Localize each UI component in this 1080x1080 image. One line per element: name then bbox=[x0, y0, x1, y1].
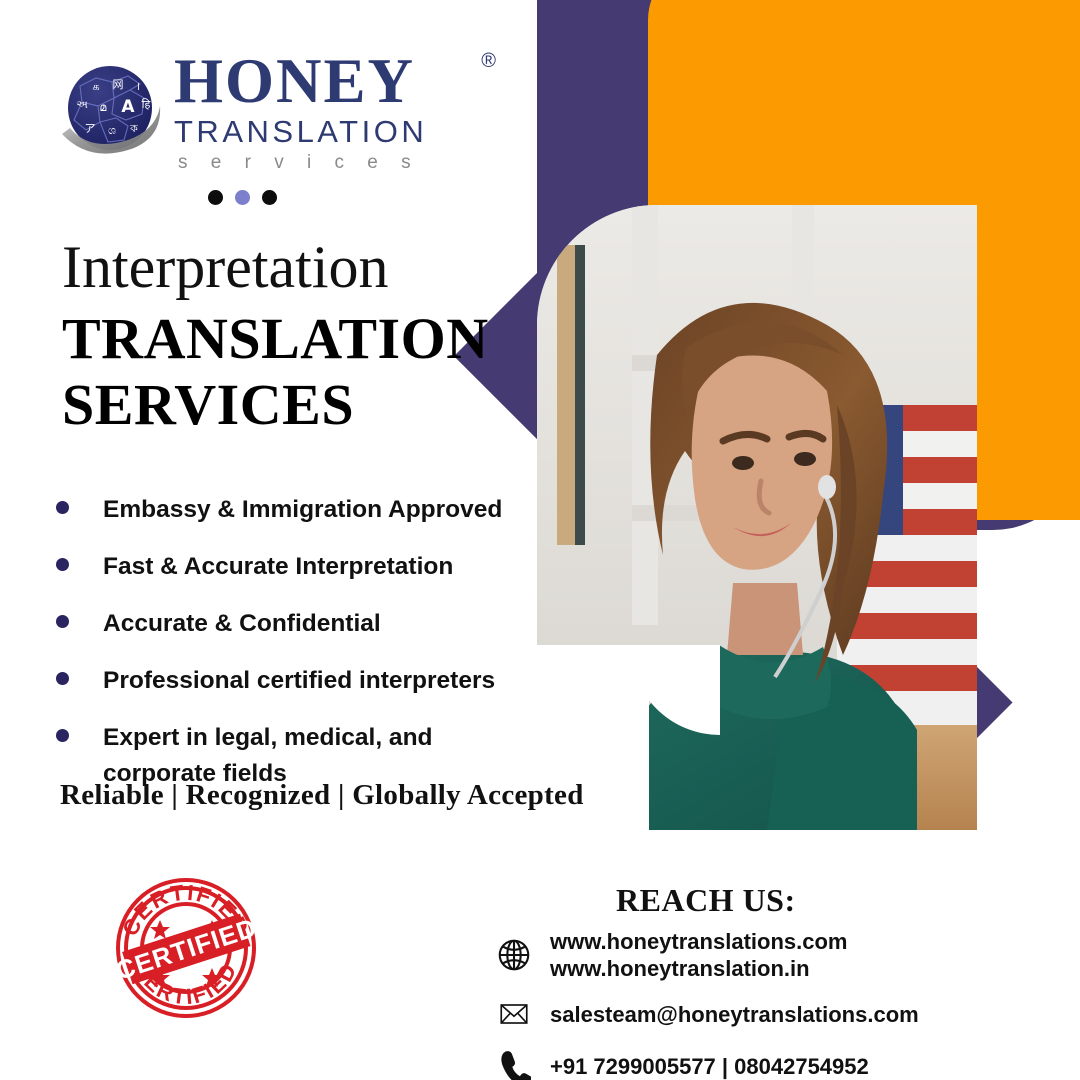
brand-name: HONEY bbox=[174, 48, 415, 114]
bullet-dot-icon bbox=[56, 501, 69, 514]
contact-line[interactable]: salesteam@honeytranslations.com bbox=[550, 1001, 919, 1028]
feature-item: Professional certified interpreters bbox=[56, 663, 526, 699]
svg-text:ශ: ශ bbox=[108, 124, 116, 137]
brand-line-services: s e r v i c e s bbox=[174, 150, 474, 176]
contact-text-group: www.honeytranslations.comwww.honeytransl… bbox=[550, 928, 847, 982]
contact-text-group: +91 7299005577 | 08042754952 bbox=[550, 1053, 869, 1080]
svg-text:க: க bbox=[92, 80, 99, 93]
reach-us-title: REACH US: bbox=[616, 882, 796, 919]
brand-line-translation: TRANSLATION bbox=[174, 114, 474, 150]
dot-2 bbox=[235, 190, 250, 205]
dot-1 bbox=[208, 190, 223, 205]
bullet-dot-icon bbox=[56, 672, 69, 685]
headline-block: Interpretation TRANSLATION SERVICES bbox=[62, 236, 532, 438]
contact-line[interactable]: www.honeytranslation.in bbox=[550, 955, 847, 982]
svg-text:ア: ア bbox=[85, 122, 96, 135]
contact-row[interactable]: +91 7299005577 | 08042754952 bbox=[492, 1046, 1052, 1080]
feature-item: Accurate & Confidential bbox=[56, 606, 526, 642]
tagline: Reliable | Recognized | Globally Accepte… bbox=[60, 779, 584, 812]
headline-main: TRANSLATION SERVICES bbox=[62, 306, 532, 438]
feature-item-label: Embassy & Immigration Approved bbox=[103, 492, 502, 528]
feature-list: Embassy & Immigration ApprovedFast & Acc… bbox=[56, 492, 526, 813]
registered-mark-icon: ® bbox=[481, 50, 496, 73]
globe-icon bbox=[492, 935, 536, 975]
contact-line[interactable]: +91 7299005577 | 08042754952 bbox=[550, 1053, 869, 1080]
envelope-icon bbox=[492, 994, 536, 1034]
feature-item-label: Fast & Accurate Interpretation bbox=[103, 549, 453, 585]
brand-wordmark: HONEY® TRANSLATION s e r v i c e s bbox=[174, 48, 474, 176]
feature-item: Fast & Accurate Interpretation bbox=[56, 549, 526, 585]
contact-rows: www.honeytranslations.comwww.honeytransl… bbox=[492, 928, 1052, 1080]
svg-text:અ: અ bbox=[76, 98, 88, 111]
svg-text:हि: हि bbox=[142, 98, 151, 111]
bullet-dot-icon bbox=[56, 729, 69, 742]
svg-text:网: 网 bbox=[113, 78, 124, 91]
headline-line-2: SERVICES bbox=[62, 372, 532, 438]
phone-icon bbox=[492, 1046, 536, 1080]
bullet-dot-icon bbox=[56, 615, 69, 628]
contact-row[interactable]: www.honeytranslations.comwww.honeytransl… bbox=[492, 928, 1052, 982]
bullet-dot-icon bbox=[56, 558, 69, 571]
feature-item-label: Professional certified interpreters bbox=[103, 663, 495, 699]
svg-text:മ: മ bbox=[100, 101, 107, 114]
brand-name-row: HONEY® bbox=[174, 48, 474, 114]
svg-text:A: A bbox=[121, 97, 135, 117]
svg-text:ক: ক bbox=[129, 122, 138, 135]
svg-text:।: । bbox=[136, 80, 140, 93]
contact-text-group: salesteam@honeytranslations.com bbox=[550, 1001, 919, 1028]
headline-line-1: TRANSLATION bbox=[62, 306, 532, 372]
headline-script: Interpretation bbox=[62, 236, 532, 298]
poster-canvas: க 网 । અ മ A हि ア ශ ক HONEY® TRANSLATION … bbox=[0, 0, 1080, 1080]
globe-logo-icon: க 网 । અ മ A हि ア ශ ক bbox=[56, 56, 168, 166]
contact-row[interactable]: salesteam@honeytranslations.com bbox=[492, 994, 1052, 1034]
feature-item-label: Accurate & Confidential bbox=[103, 606, 381, 642]
feature-item: Embassy & Immigration Approved bbox=[56, 492, 526, 528]
contact-line[interactable]: www.honeytranslations.com bbox=[550, 928, 847, 955]
dot-3 bbox=[262, 190, 277, 205]
decorative-dots bbox=[208, 190, 277, 205]
